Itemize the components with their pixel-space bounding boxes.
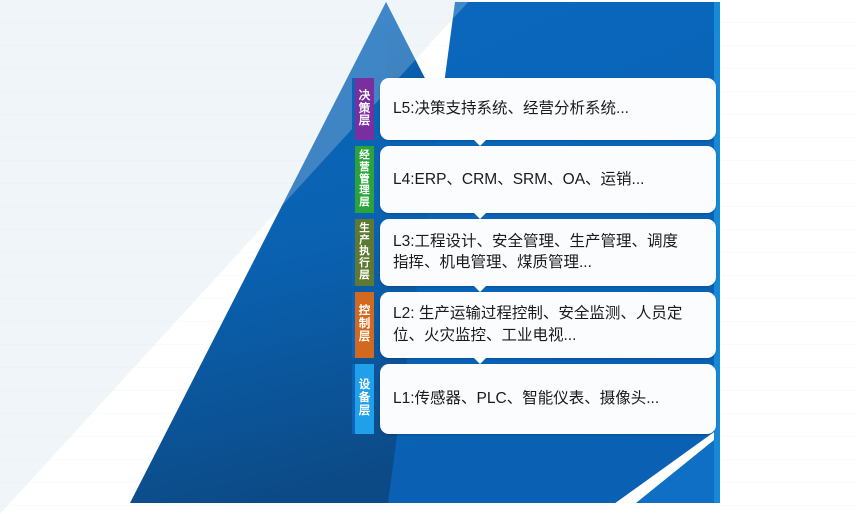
layer-tag-l4: 经 营 管 理 层	[352, 146, 374, 213]
layer-tag-char: 设	[359, 379, 371, 392]
layer-tag-char: 层	[359, 197, 370, 209]
layer-tag-char: 策	[359, 103, 371, 116]
layer-card-l4[interactable]: L4:ERP、CRM、SRM、OA、运销...	[380, 146, 716, 213]
layer-card-line: L3:工程设计、安全管理、生产管理、调度	[393, 231, 678, 252]
bottom-right-white-wedge	[600, 432, 714, 514]
layer-tag-l5: 决 策 层	[352, 78, 374, 140]
layer-tag-char: 层	[359, 405, 371, 418]
layer-card-text: L3:工程设计、安全管理、生产管理、调度 指挥、机电管理、煤质管理...	[393, 231, 678, 274]
layer-card-l1[interactable]: L1:传感器、PLC、智能仪表、摄像头...	[380, 364, 716, 434]
layer-card-line: L5:决策支持系统、经营分析系统...	[393, 98, 629, 119]
pyramid-diagram-stage: 决 策 层 L5:决策支持系统、经营分析系统... 经 营 管 理 层	[0, 0, 856, 514]
layer-card-l3[interactable]: L3:工程设计、安全管理、生产管理、调度 指挥、机电管理、煤质管理...	[380, 219, 716, 286]
layer-card-text: L5:决策支持系统、经营分析系统...	[393, 98, 629, 119]
layer-card-line: 位、火灾监控、工业电视...	[393, 325, 682, 346]
layer-tag-l1: 设 备 层	[352, 364, 374, 434]
gap-marker-icon	[474, 358, 486, 364]
layer-tag-l2: 控 制 层	[352, 292, 374, 358]
layer-tag-char: 层	[359, 331, 371, 344]
layer-tag-char: 层	[359, 115, 371, 128]
layer-card-text: L4:ERP、CRM、SRM、OA、运销...	[393, 169, 644, 190]
layer-card-line: L2: 生产运输过程控制、安全监测、人员定	[393, 303, 682, 324]
gap-marker-icon	[474, 213, 486, 219]
layer-tag-char: 层	[359, 270, 370, 282]
layer-card-line: 指挥、机电管理、煤质管理...	[393, 252, 678, 273]
layer-card-l2[interactable]: L2: 生产运输过程控制、安全监测、人员定 位、火灾监控、工业电视...	[380, 292, 716, 358]
layer-tag-char: 制	[359, 318, 371, 331]
layer-card-l5[interactable]: L5:决策支持系统、经营分析系统...	[380, 78, 716, 140]
layer-card-text: L2: 生产运输过程控制、安全监测、人员定 位、火灾监控、工业电视...	[393, 303, 682, 346]
layer-rows: 决 策 层 L5:决策支持系统、经营分析系统... 经 营 管 理 层	[352, 78, 716, 434]
layer-card-line: L1:传感器、PLC、智能仪表、摄像头...	[393, 388, 659, 409]
layer-row-l4[interactable]: 经 营 管 理 层 L4:ERP、CRM、SRM、OA、运销...	[352, 146, 716, 213]
layer-tag-char: 行	[359, 258, 370, 270]
layer-tag-char: 经	[359, 150, 370, 162]
layer-row-l5[interactable]: 决 策 层 L5:决策支持系统、经营分析系统...	[352, 78, 716, 140]
layer-row-l2[interactable]: 控 制 层 L2: 生产运输过程控制、安全监测、人员定 位、火灾监控、工业电视.…	[352, 292, 716, 358]
layer-tag-char: 控	[359, 305, 371, 318]
layer-card-line: L4:ERP、CRM、SRM、OA、运销...	[393, 169, 644, 190]
layer-tag-char: 备	[359, 392, 371, 405]
bottom-right-blue-wedge	[636, 440, 714, 503]
layer-card-text: L1:传感器、PLC、智能仪表、摄像头...	[393, 388, 659, 409]
layer-tag-char: 决	[359, 90, 371, 103]
gap-marker-icon	[474, 140, 486, 146]
layer-row-l3[interactable]: 生 产 执 行 层 L3:工程设计、安全管理、生产管理、调度 指挥、机电管理、煤…	[352, 219, 716, 286]
layer-tag-char: 营	[359, 162, 370, 174]
layer-row-l1[interactable]: 设 备 层 L1:传感器、PLC、智能仪表、摄像头...	[352, 364, 716, 434]
layer-tag-char: 生	[359, 223, 370, 235]
gap-marker-icon	[474, 286, 486, 292]
layer-tag-l3: 生 产 执 行 层	[352, 219, 374, 286]
